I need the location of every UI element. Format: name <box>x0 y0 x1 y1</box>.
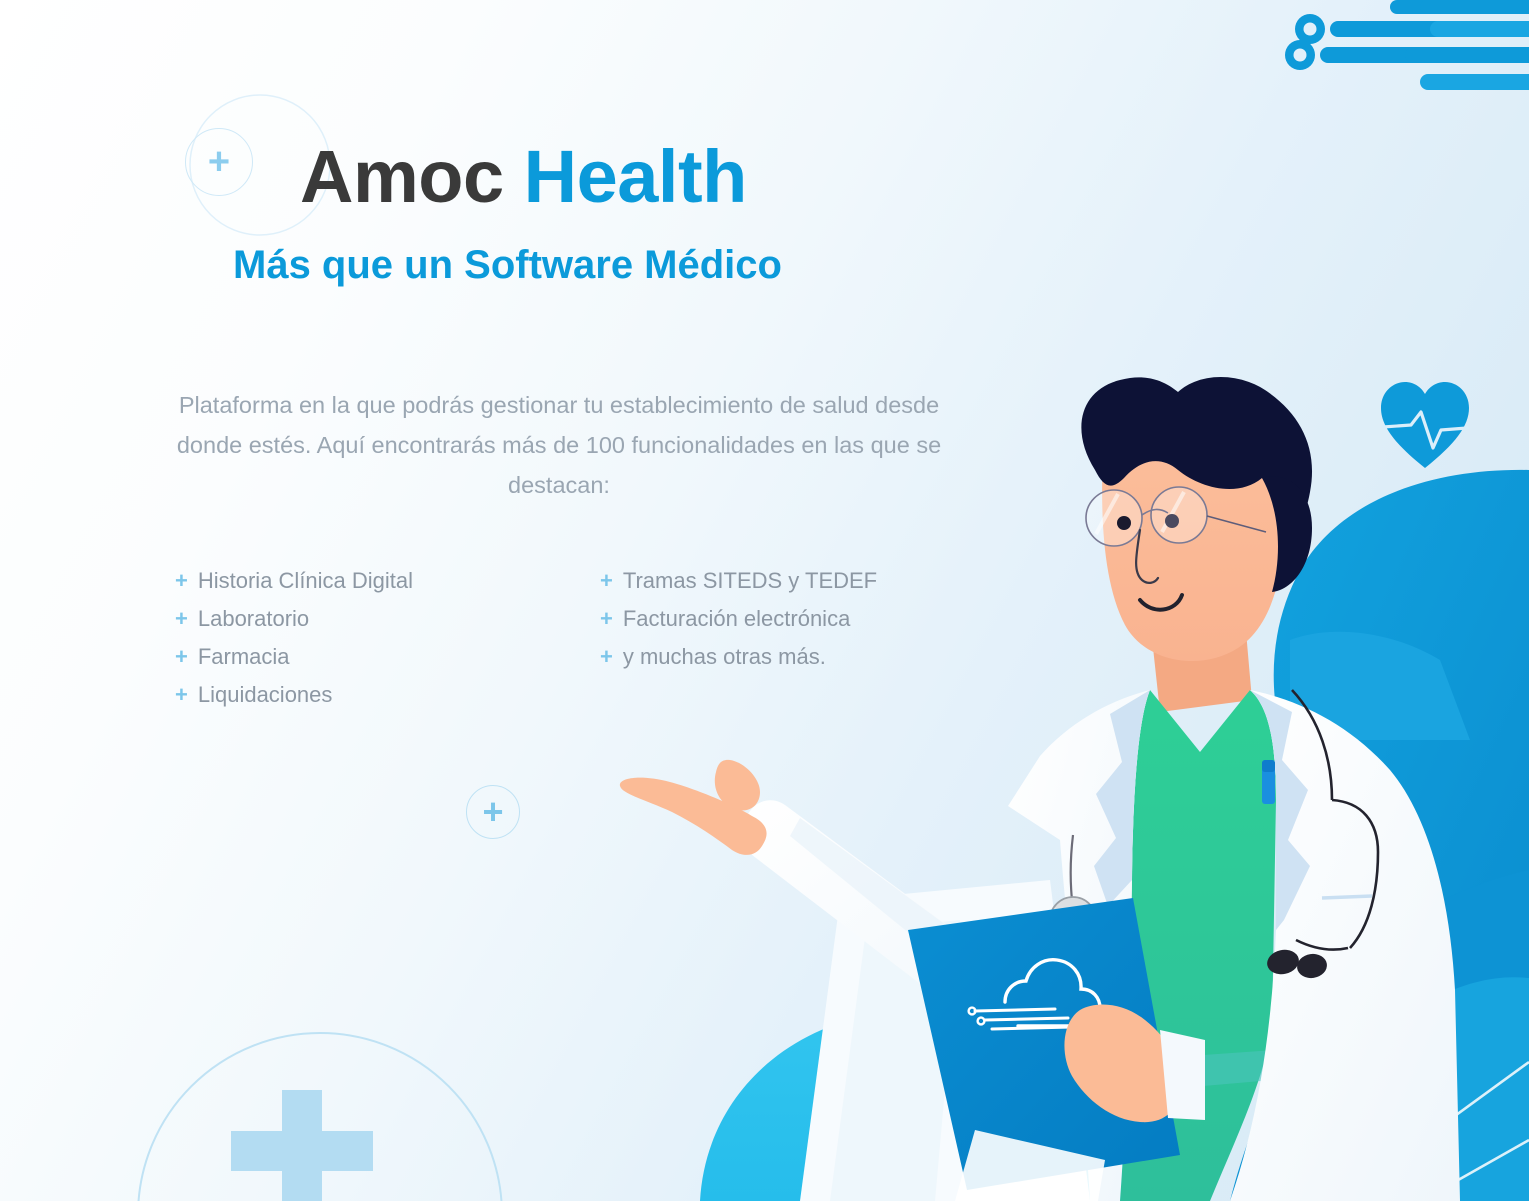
feature-list: + Historia Clínica Digital + Laboratorio… <box>175 568 975 720</box>
list-item-label: y muchas otras más. <box>623 644 826 670</box>
list-item-label: Tramas SITEDS y TEDEF <box>623 568 877 594</box>
plus-bullet-icon: + <box>175 570 188 592</box>
plus-icon: + <box>208 143 230 181</box>
doctor-eye-right <box>1165 514 1179 528</box>
circuit-lines-icon <box>1285 0 1529 90</box>
page-title: Amoc Health <box>300 138 747 216</box>
plus-badge-middle: + <box>466 785 520 839</box>
list-item: + y muchas otras más. <box>600 644 975 682</box>
list-item: + Laboratorio <box>175 606 600 644</box>
plus-icon-bottom-left <box>231 1090 373 1201</box>
list-item-label: Facturación electrónica <box>623 606 850 632</box>
heart-pulse-icon <box>1381 382 1469 468</box>
list-item-label: Laboratorio <box>198 606 309 632</box>
plus-bullet-icon: + <box>175 646 188 668</box>
plus-bullet-icon: + <box>175 684 188 706</box>
doctor-coat-pocket <box>1322 896 1372 898</box>
brand-tagline: Más que un Software Médico <box>233 243 782 288</box>
list-item-label: Historia Clínica Digital <box>198 568 413 594</box>
plus-bullet-icon: + <box>600 646 613 668</box>
plus-bullet-icon: + <box>175 608 188 630</box>
list-item: + Historia Clínica Digital <box>175 568 600 606</box>
feature-column-right: + Tramas SITEDS y TEDEF + Facturación el… <box>600 568 975 720</box>
list-item: + Liquidaciones <box>175 682 600 720</box>
plus-bullet-icon: + <box>600 570 613 592</box>
lead-paragraph: Plataforma en la que podrás gestionar tu… <box>175 385 943 505</box>
hero-banner: + Amoc Health Más que un Software Médico… <box>0 0 1529 1201</box>
doctor-eye-left <box>1117 516 1131 530</box>
brand-name-first: Amoc <box>300 135 504 218</box>
feature-column-left: + Historia Clínica Digital + Laboratorio… <box>175 568 600 720</box>
plus-bullet-icon: + <box>600 608 613 630</box>
list-item: + Tramas SITEDS y TEDEF <box>600 568 975 606</box>
doctor-pen-icon <box>1262 760 1275 804</box>
plus-badge-title: + <box>185 128 253 196</box>
list-item: + Farmacia <box>175 644 600 682</box>
list-item-label: Liquidaciones <box>198 682 333 708</box>
list-item-label: Farmacia <box>198 644 290 670</box>
plus-icon: + <box>482 794 503 830</box>
list-item: + Facturación electrónica <box>600 606 975 644</box>
brand-name-second: Health <box>524 135 747 218</box>
